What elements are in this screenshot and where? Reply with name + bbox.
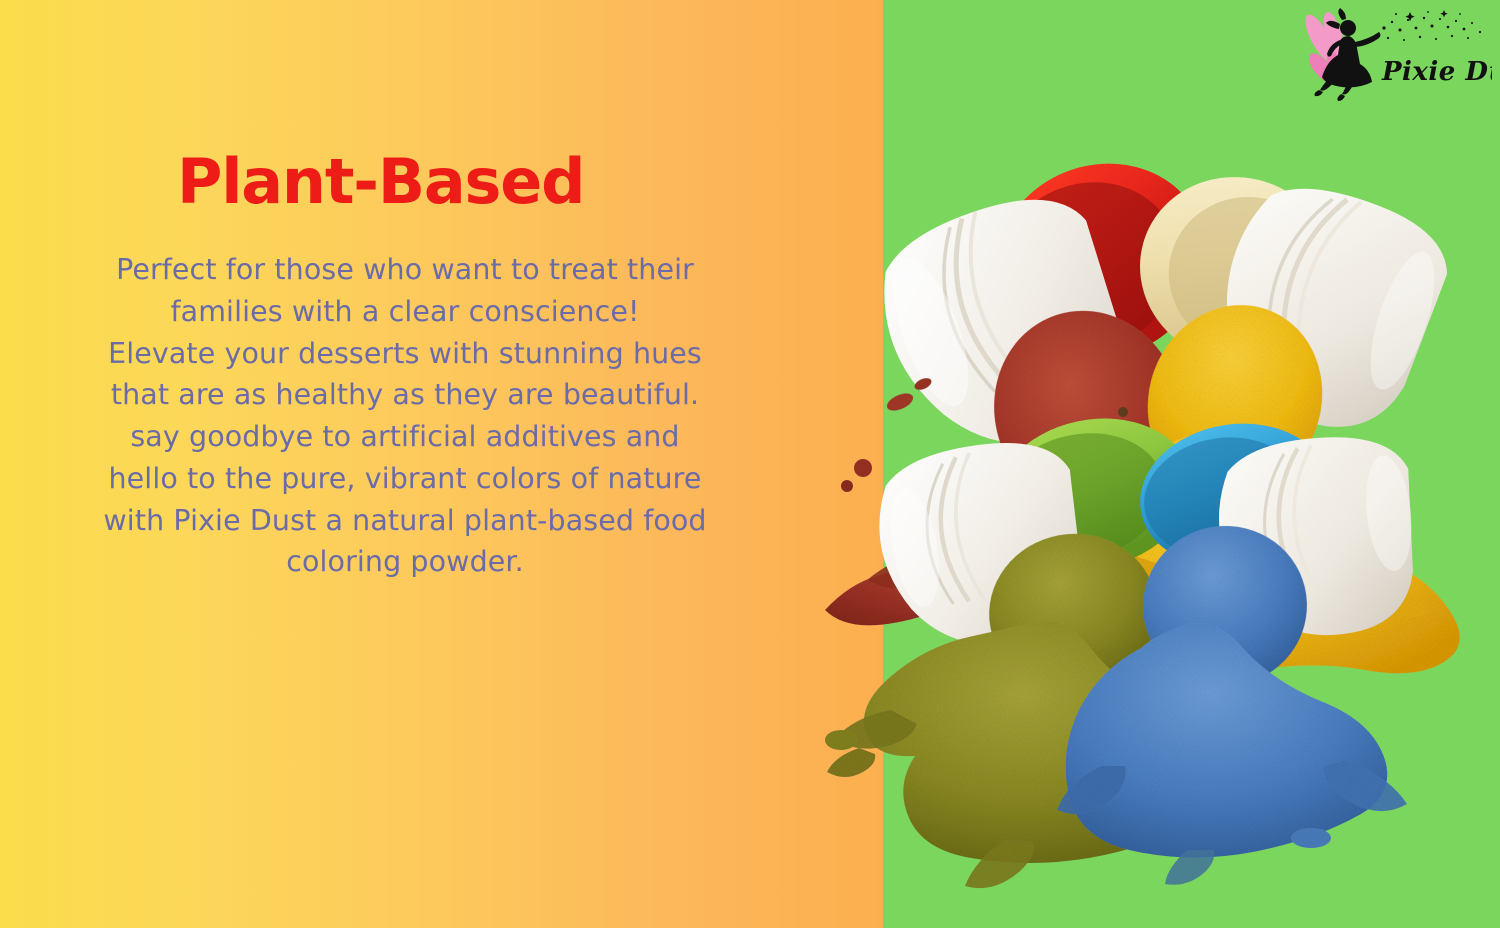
poster-canvas: Plant-Based Perfect for those who want t… xyxy=(0,0,1500,928)
sparkle-dust-icon xyxy=(1382,10,1481,41)
body-paragraph-2: Elevate your desserts with stunning hues… xyxy=(95,333,715,584)
product-photo xyxy=(805,150,1500,890)
body-paragraph-1: Perfect for those who want to treat thei… xyxy=(95,249,715,333)
page-title: Plant-Based xyxy=(95,150,715,213)
brand-logo[interactable]: Pixie Dust xyxy=(1292,6,1492,106)
copy-block: Plant-Based Perfect for those who want t… xyxy=(95,150,715,583)
body-copy: Perfect for those who want to treat thei… xyxy=(95,249,715,583)
brand-wordmark: Pixie Dust xyxy=(1381,57,1492,87)
